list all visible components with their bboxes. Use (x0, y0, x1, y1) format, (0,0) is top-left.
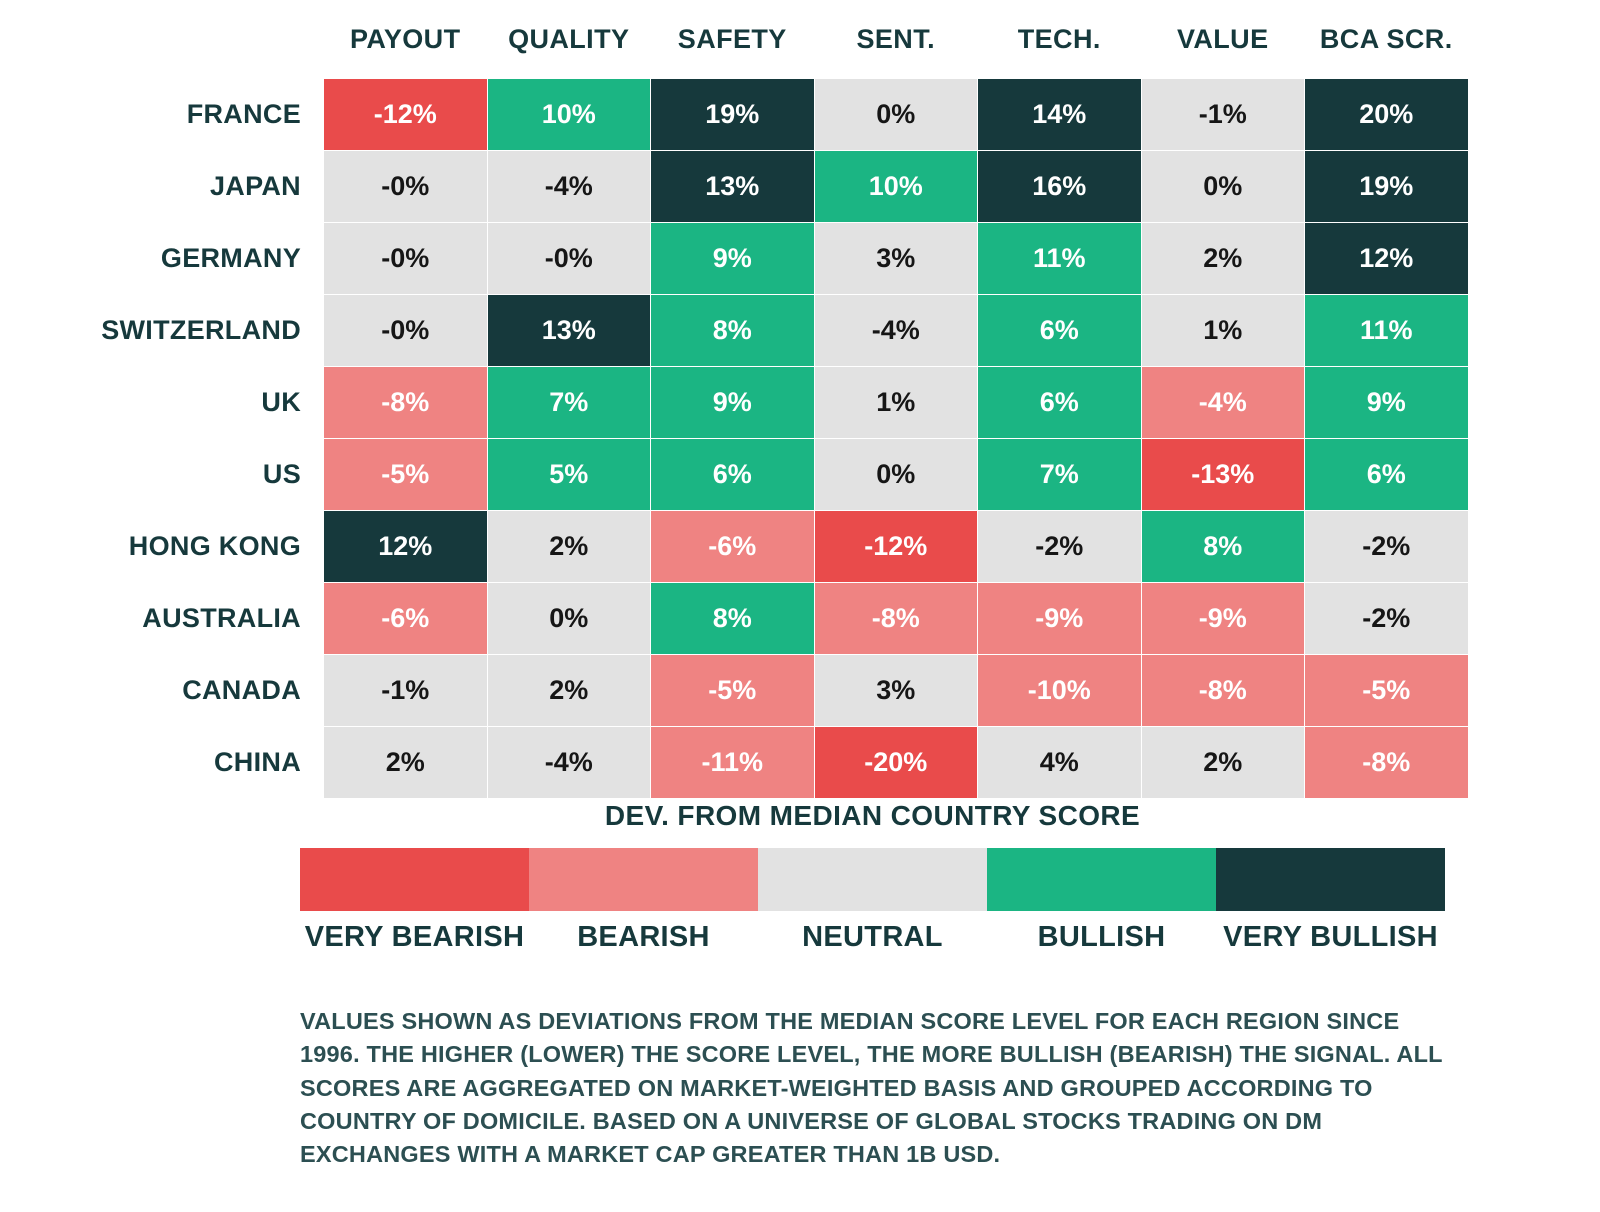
heatmap-cell: -2% (1305, 583, 1469, 655)
heatmap-cell: 2% (1141, 223, 1305, 295)
row-label-uk: UK (0, 367, 324, 439)
column-header-value: VALUE (1141, 0, 1305, 79)
heatmap-cell: -10% (978, 655, 1142, 727)
column-header-safety: SAFETY (651, 0, 815, 79)
row-label-australia: AUSTRALIA (0, 583, 324, 655)
heatmap-head: PAYOUT QUALITY SAFETY SENT. TECH. VALUE … (0, 0, 1468, 79)
row-label-canada: CANADA (0, 655, 324, 727)
heatmap-cell: -4% (487, 727, 651, 799)
heatmap-cell: -11% (651, 727, 815, 799)
heatmap-cell: 10% (487, 79, 651, 151)
heatmap-cell: 3% (814, 223, 978, 295)
row-label-us: US (0, 439, 324, 511)
row-label-japan: JAPAN (0, 151, 324, 223)
table-row: CHINA2%-4%-11%-20%4%2%-8% (0, 727, 1468, 799)
heatmap-cell: -5% (1305, 655, 1469, 727)
heatmap-cell: 4% (978, 727, 1142, 799)
column-header-quality: QUALITY (487, 0, 651, 79)
column-header-payout: PAYOUT (324, 0, 488, 79)
column-header-technical: TECH. (978, 0, 1142, 79)
heatmap-container: PAYOUT QUALITY SAFETY SENT. TECH. VALUE … (0, 0, 1600, 799)
heatmap-cell: 10% (814, 151, 978, 223)
row-label-switzerland: SWITZERLAND (0, 295, 324, 367)
row-label-france: FRANCE (0, 79, 324, 151)
heatmap-cell: -12% (324, 79, 488, 151)
heatmap-cell: 12% (324, 511, 488, 583)
heatmap-cell: 7% (978, 439, 1142, 511)
heatmap-cell: 19% (1305, 151, 1469, 223)
heatmap-cell: 8% (651, 295, 815, 367)
heatmap-cell: 8% (651, 583, 815, 655)
heatmap-cell: 12% (1305, 223, 1469, 295)
heatmap-cell: -9% (1141, 583, 1305, 655)
column-header-sentiment: SENT. (814, 0, 978, 79)
heatmap-cell: -0% (324, 151, 488, 223)
row-label-hong-kong: HONG KONG (0, 511, 324, 583)
legend-label-bullish: BULLISH (987, 921, 1216, 954)
heatmap-cell: 0% (487, 583, 651, 655)
heatmap-cell: -12% (814, 511, 978, 583)
legend-swatch-neutral (758, 848, 987, 911)
heatmap-cell: 20% (1305, 79, 1469, 151)
heatmap-cell: 3% (814, 655, 978, 727)
heatmap-cell: 9% (1305, 367, 1469, 439)
table-row: SWITZERLAND-0%13%8%-4%6%1%11% (0, 295, 1468, 367)
heatmap-cell: -8% (1305, 727, 1469, 799)
heatmap-cell: -8% (324, 367, 488, 439)
row-label-china: CHINA (0, 727, 324, 799)
heatmap-cell: 2% (1141, 727, 1305, 799)
heatmap-cell: -8% (814, 583, 978, 655)
heatmap-cell: 5% (487, 439, 651, 511)
table-row: JAPAN-0%-4%13%10%16%0%19% (0, 151, 1468, 223)
heatmap-cell: -2% (978, 511, 1142, 583)
table-row: UK-8%7%9%1%6%-4%9% (0, 367, 1468, 439)
heatmap-cell: 9% (651, 367, 815, 439)
heatmap-cell: 11% (1305, 295, 1469, 367)
table-row: GERMANY-0%-0%9%3%11%2%12% (0, 223, 1468, 295)
table-row: CANADA-1%2%-5%3%-10%-8%-5% (0, 655, 1468, 727)
heatmap-cell: -9% (978, 583, 1142, 655)
heatmap-cell: 6% (1305, 439, 1469, 511)
heatmap-cell: 2% (487, 655, 651, 727)
heatmap-cell: 0% (814, 79, 978, 151)
heatmap-cell: 7% (487, 367, 651, 439)
legend-label-bearish: BEARISH (529, 921, 758, 954)
heatmap-cell: 1% (1141, 295, 1305, 367)
legend-title: DEV. FROM MEDIAN COUNTRY SCORE (300, 800, 1445, 832)
heatmap-cell: -1% (1141, 79, 1305, 151)
heatmap-cell: -8% (1141, 655, 1305, 727)
heatmap-cell: -6% (324, 583, 488, 655)
table-row: HONG KONG12%2%-6%-12%-2%8%-2% (0, 511, 1468, 583)
heatmap-page: PAYOUT QUALITY SAFETY SENT. TECH. VALUE … (0, 0, 1600, 1212)
heatmap-cell: 8% (1141, 511, 1305, 583)
heatmap-cell: -0% (324, 223, 488, 295)
header-row: PAYOUT QUALITY SAFETY SENT. TECH. VALUE … (0, 0, 1468, 79)
heatmap-cell: 11% (978, 223, 1142, 295)
heatmap-cell: 2% (324, 727, 488, 799)
legend-color-bar (300, 848, 1445, 911)
heatmap-cell: -4% (487, 151, 651, 223)
legend-label-row: VERY BEARISHBEARISHNEUTRALBULLISHVERY BU… (300, 921, 1445, 954)
corner-cell (0, 0, 324, 79)
legend-swatch-bearish (529, 848, 758, 911)
heatmap-cell: -20% (814, 727, 978, 799)
legend: DEV. FROM MEDIAN COUNTRY SCORE VERY BEAR… (300, 800, 1445, 954)
heatmap-cell: -5% (324, 439, 488, 511)
heatmap-cell: -1% (324, 655, 488, 727)
heatmap-cell: 13% (487, 295, 651, 367)
heatmap-cell: -2% (1305, 511, 1469, 583)
heatmap-cell: -4% (814, 295, 978, 367)
heatmap-cell: 14% (978, 79, 1142, 151)
table-row: US-5%5%6%0%7%-13%6% (0, 439, 1468, 511)
heatmap-cell: 2% (487, 511, 651, 583)
heatmap-cell: 1% (814, 367, 978, 439)
country-score-heatmap-table: PAYOUT QUALITY SAFETY SENT. TECH. VALUE … (0, 0, 1469, 799)
column-header-bca-score: BCA SCR. (1305, 0, 1469, 79)
table-row: FRANCE-12%10%19%0%14%-1%20% (0, 79, 1468, 151)
heatmap-cell: 13% (651, 151, 815, 223)
legend-label-very-bullish: VERY BULLISH (1216, 921, 1445, 954)
heatmap-cell: -0% (487, 223, 651, 295)
heatmap-cell: 6% (978, 295, 1142, 367)
legend-swatch-very-bullish (1216, 848, 1445, 911)
heatmap-cell: 0% (814, 439, 978, 511)
heatmap-cell: -13% (1141, 439, 1305, 511)
legend-label-very-bearish: VERY BEARISH (300, 921, 529, 954)
heatmap-cell: -6% (651, 511, 815, 583)
heatmap-cell: -0% (324, 295, 488, 367)
heatmap-body: FRANCE-12%10%19%0%14%-1%20%JAPAN-0%-4%13… (0, 79, 1468, 799)
heatmap-cell: 6% (651, 439, 815, 511)
heatmap-cell: 9% (651, 223, 815, 295)
legend-swatch-very-bearish (300, 848, 529, 911)
row-label-germany: GERMANY (0, 223, 324, 295)
footnote-text: VALUES SHOWN AS DEVIATIONS FROM THE MEDI… (300, 1005, 1460, 1172)
legend-label-neutral: NEUTRAL (758, 921, 987, 954)
heatmap-cell: 0% (1141, 151, 1305, 223)
heatmap-cell: 19% (651, 79, 815, 151)
heatmap-cell: -5% (651, 655, 815, 727)
heatmap-cell: 16% (978, 151, 1142, 223)
legend-swatch-bullish (987, 848, 1216, 911)
table-row: AUSTRALIA-6%0%8%-8%-9%-9%-2% (0, 583, 1468, 655)
heatmap-cell: -4% (1141, 367, 1305, 439)
heatmap-cell: 6% (978, 367, 1142, 439)
